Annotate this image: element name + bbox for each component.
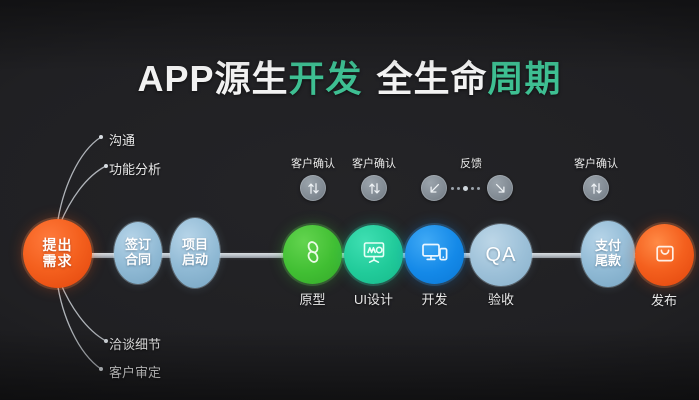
node-requirement[interactable]: 提出 需求 [23,219,92,288]
monitor-mobile-icon [419,237,450,272]
caption-qa: 验收 [470,289,532,308]
title-part-2-highlight: 开发 [288,58,362,99]
arrow-down-left-icon [427,181,442,196]
feedback-dot-connector [451,186,480,191]
caption-prototype: 原型 [283,289,342,308]
node-develop[interactable] [405,225,464,284]
node-kickoff[interactable]: 项目 启动 [170,218,220,288]
node-prototype[interactable] [283,225,342,284]
node-payment[interactable]: 支付 尾款 [581,221,635,287]
badge-feedback-out[interactable] [487,175,513,201]
title-part-1: APP源生 [137,58,288,99]
branch-label-client-approval: 客户审定 [109,362,161,381]
rail-segment-7 [528,253,586,258]
arrow-down-right-icon [493,181,508,196]
up-down-arrows-icon [367,181,382,196]
node-payment-label: 支付 尾款 [595,239,621,268]
poster-canvas: APP源生开发全生命周期 沟通 功能分析 洽谈细节 客户审定 提出 需求 签订 … [0,0,699,400]
caption-develop: 开发 [405,289,464,308]
branch-label-communication: 沟通 [109,130,135,149]
caption-uidesign: UI设计 [339,289,408,308]
node-contract-label: 签订 合同 [125,238,151,267]
node-kickoff-label: 项目 启动 [182,238,208,267]
badge-confirm-prototype[interactable] [300,175,326,201]
badge-label-feedback: 反馈 [430,155,512,171]
badge-label-confirm-uidesign: 客户确认 [333,155,415,171]
branch-label-negotiate-details: 洽谈细节 [109,334,161,353]
up-down-arrows-icon [589,181,604,196]
chain-link-icon [299,238,327,271]
caption-publish: 发布 [633,290,695,309]
node-requirement-label: 提出 需求 [43,238,73,269]
title-part-4-highlight: 周期 [488,58,562,99]
title-part-3: 全生命 [377,58,488,99]
node-contract[interactable]: 签订 合同 [114,222,162,284]
badge-label-confirm-payment: 客户确认 [555,155,637,171]
badge-confirm-payment[interactable] [583,175,609,201]
node-qa[interactable]: QA [470,224,532,286]
design-board-icon [359,237,389,272]
node-qa-label: QA [486,244,517,266]
badge-confirm-uidesign[interactable] [361,175,387,201]
shopping-bag-icon [651,239,679,272]
node-uidesign[interactable] [344,225,403,284]
badge-feedback-in[interactable] [421,175,447,201]
page-title: APP源生开发全生命周期 [0,50,699,102]
branch-label-function-analysis: 功能分析 [109,159,161,178]
up-down-arrows-icon [306,181,321,196]
rail-segment-3 [211,253,285,258]
node-publish[interactable] [635,224,694,286]
